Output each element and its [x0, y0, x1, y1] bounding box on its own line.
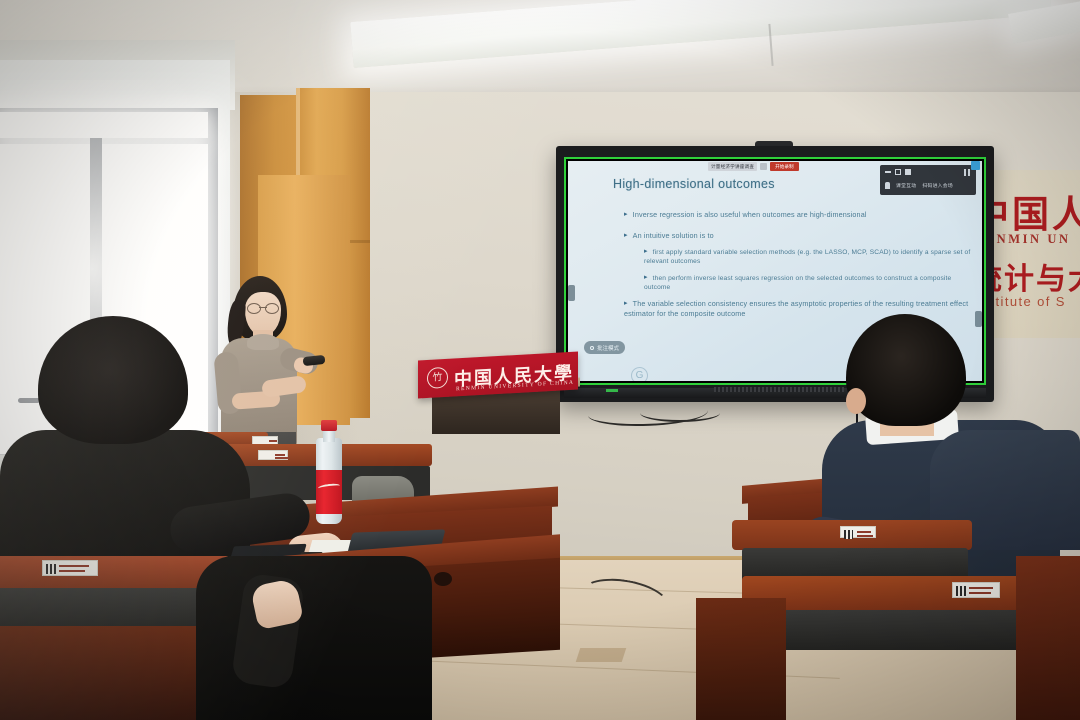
annotation-mode-button[interactable]: 批注模式: [584, 341, 625, 354]
bullet-marker-icon: ▸: [624, 300, 628, 307]
attendee-front-torso: [196, 556, 432, 720]
left-side-tab[interactable]: [568, 285, 575, 301]
desk-right-edge: [1016, 556, 1080, 720]
right-side-tab[interactable]: [975, 311, 982, 327]
record-button[interactable]: 开始录制: [770, 162, 798, 171]
bullet-marker-icon: ▸: [644, 274, 648, 281]
bullet-marker-icon: ▸: [624, 211, 628, 218]
board-power-led: [606, 389, 618, 392]
window-transom-pane: [0, 112, 208, 138]
minimize-icon[interactable]: [885, 171, 891, 172]
panel-info-row: 课堂互动 扫码进入会场: [885, 182, 953, 189]
bottle-cap[interactable]: [321, 420, 337, 431]
window-controls[interactable]: [885, 169, 911, 175]
chair-asset-tag: [258, 450, 288, 460]
slide-bullet-1-text: Inverse regression is also useful when o…: [633, 210, 867, 219]
bullet-marker-icon: ▸: [624, 232, 628, 239]
slide-bullet-2: ▸An intuitive solution is to: [624, 231, 982, 241]
slide-subbullet-1: ▸first apply standard variable selection…: [644, 247, 979, 267]
chair-asset-tag: [952, 582, 1000, 598]
slide-subbullet-2-text: then perform inverse least squares regre…: [644, 275, 951, 292]
floating-session-panel[interactable]: 课堂互动 扫码进入会场: [880, 165, 976, 195]
university-logo-icon: 竹: [427, 367, 448, 389]
slide-title: High-dimensional outcomes: [613, 177, 775, 191]
classroom-photo: 中国人 RENMIN UN 统计与大 Institute of S 计量经济学讲…: [0, 0, 1080, 720]
slide-subbullet-2: ▸then perform inverse least squares regr…: [644, 273, 979, 293]
board-status-icon: [971, 161, 980, 170]
restore-icon[interactable]: [895, 169, 901, 175]
board-speaker-grille: [714, 387, 844, 392]
grid-icon[interactable]: [964, 169, 971, 176]
desk-lock: [434, 572, 452, 586]
chair-pad-right-2: [752, 610, 1038, 650]
chair-asset-tag: [42, 560, 98, 576]
close-icon[interactable]: [905, 169, 911, 175]
floor-outlet: [576, 648, 627, 662]
chair-back-front-1[interactable]: [0, 556, 230, 590]
window-handle-left: [18, 398, 40, 403]
display-cable-secondary: [640, 404, 720, 422]
panel-text-right: 扫码进入会场: [922, 182, 953, 189]
annotation-mode-label: 批注模式: [597, 346, 619, 352]
chair-asset-tag: [840, 526, 876, 538]
bullet-marker-icon: ▸: [644, 248, 648, 255]
panel-text-left: 课堂互动: [896, 182, 916, 189]
presenter-turtleneck-collar: [247, 334, 279, 350]
pen-icon: [590, 346, 594, 350]
slide-bullet-1: ▸Inverse regression is also useful when …: [624, 210, 982, 220]
attendee-right-ear: [846, 388, 866, 414]
slide-bullet-2-text: An intuitive solution is to: [633, 231, 714, 240]
slide-watermark-icon: G: [631, 367, 648, 381]
user-icon: [885, 182, 890, 189]
presenter-glasses: [247, 303, 279, 312]
bottle-label: [316, 470, 342, 514]
desk-right-lower: [696, 598, 786, 720]
presentation-toolbar[interactable]: 计量经济学讲座调查 开始录制: [708, 162, 799, 171]
toolbar-title-chip: 计量经济学讲座调查: [708, 162, 757, 171]
toolbar-square-icon[interactable]: [760, 163, 767, 170]
slide-subbullet-1-text: first apply standard variable selection …: [644, 249, 970, 266]
